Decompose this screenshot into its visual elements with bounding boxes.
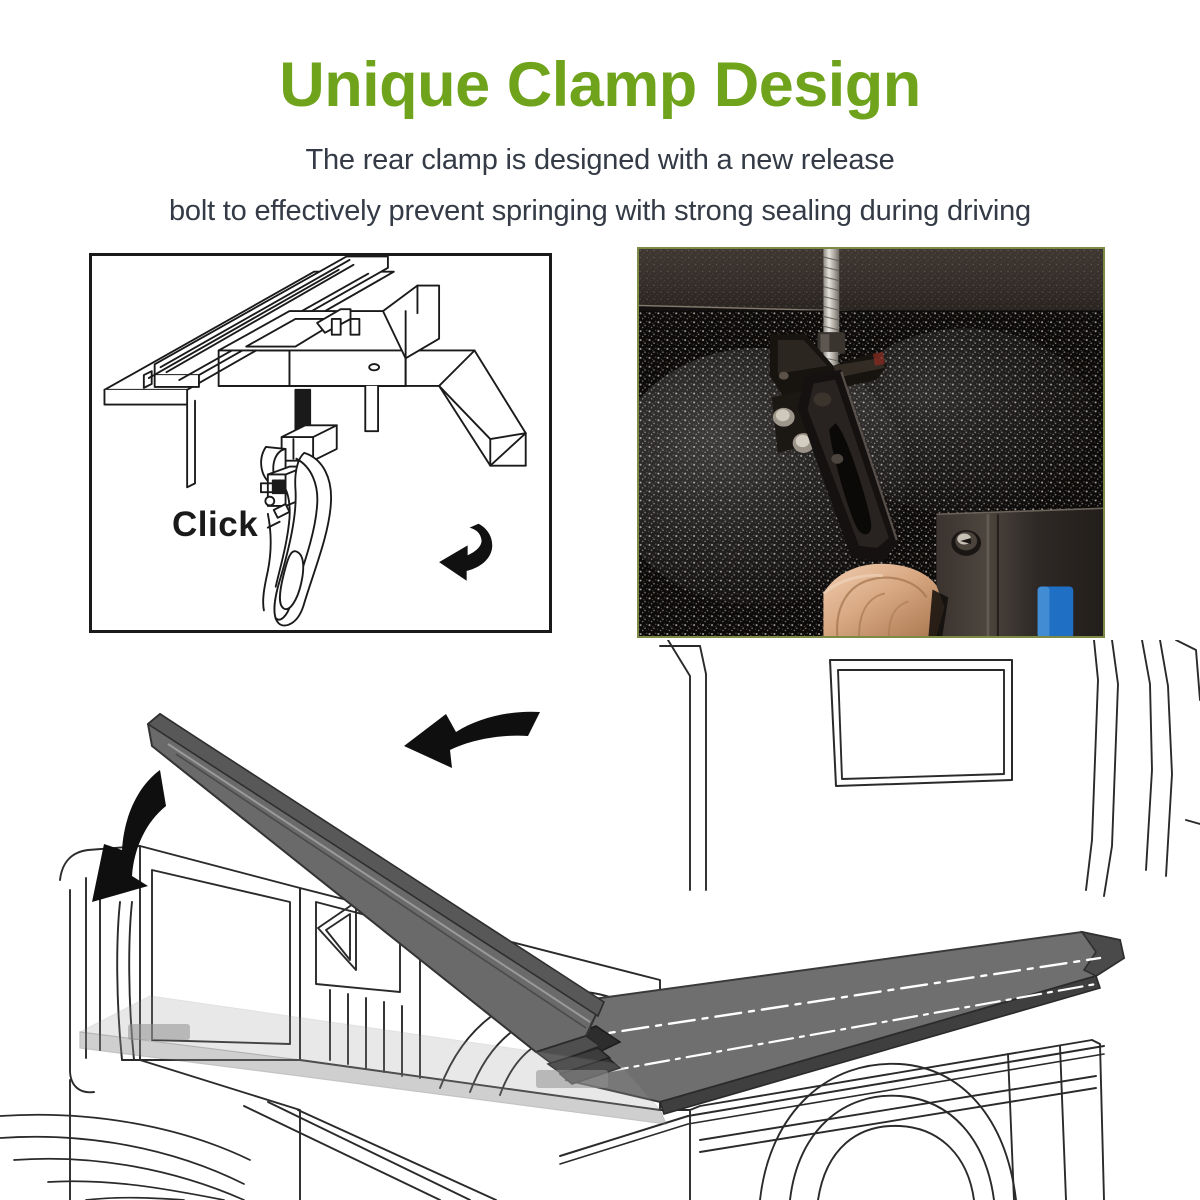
click-label: Click xyxy=(172,505,258,545)
truck-line-drawing xyxy=(0,640,1200,1200)
clamp-diagram-panel xyxy=(89,253,552,633)
subtitle-line-1: The rear clamp is designed with a new re… xyxy=(0,141,1200,179)
truck-tonneau-illustration xyxy=(0,640,1200,1200)
fold-down-arrow-icon xyxy=(92,770,166,902)
clamp-photo-panel xyxy=(637,247,1105,638)
clamp-line-drawing xyxy=(92,256,549,630)
subtitle-line-2: bolt to effectively prevent springing wi… xyxy=(0,192,1200,230)
fold-forward-arrow-icon xyxy=(404,712,540,768)
clamp-photo xyxy=(639,249,1103,636)
page-title: Unique Clamp Design xyxy=(0,50,1200,120)
infographic-page: Unique Clamp Design The rear clamp is de… xyxy=(0,0,1200,1200)
rotation-arrow-icon xyxy=(439,524,492,581)
